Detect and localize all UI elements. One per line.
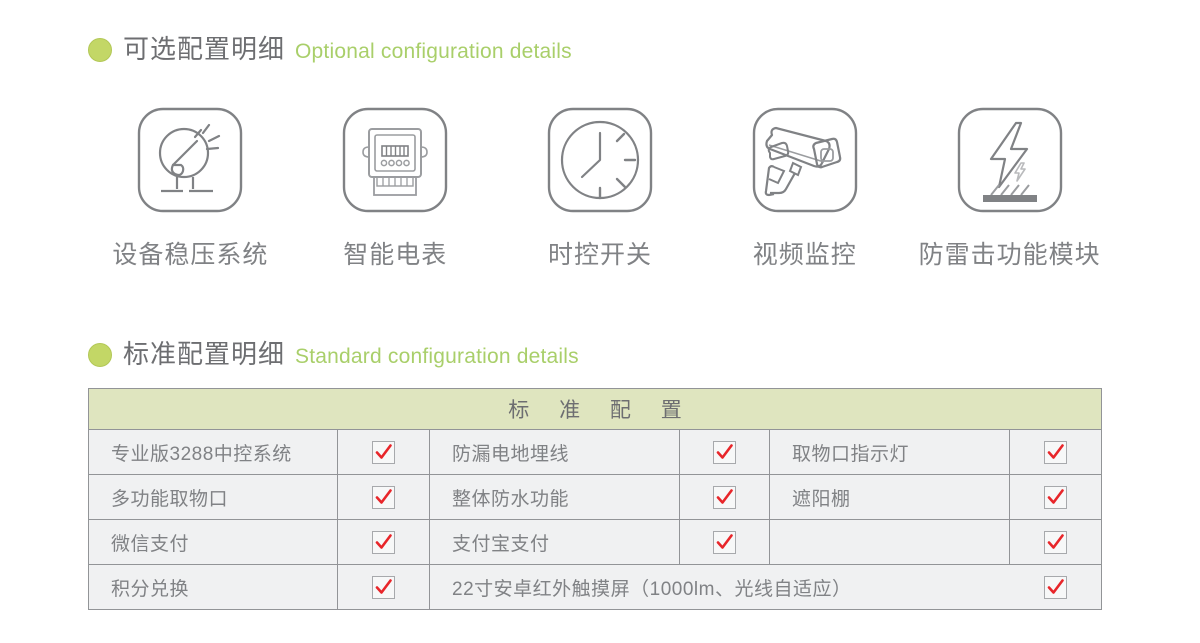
config-item-cell: 积分兑换 [88, 565, 338, 610]
config-item-label: 取物口指示灯 [770, 444, 909, 465]
checkbox-checked-icon[interactable] [1044, 531, 1067, 554]
checkbox-checked-icon[interactable] [1044, 441, 1067, 464]
checkbox-checked-icon[interactable] [372, 531, 395, 554]
optional-item-label: 防雷击功能模块 [919, 235, 1101, 271]
config-item-label: 多功能取物口 [89, 489, 228, 510]
video-surveillance-camera-icon [750, 105, 860, 215]
config-item-label [770, 531, 792, 552]
section-title-cn: 可选配置明细 [123, 29, 285, 66]
smart-electricity-meter-icon [340, 105, 450, 215]
config-item-label: 积分兑换 [89, 579, 189, 600]
table-header-row: 标 准 配 置 [88, 388, 1102, 430]
optional-items-row: 设备稳压系统 智能电表 [88, 105, 1112, 271]
config-item-cell-wide: 22寸安卓红外触摸屏（1000lm、光线自适应） [430, 565, 1102, 610]
optional-item-lightning-protection: 防雷击功能模块 [907, 105, 1112, 271]
config-item-label: 整体防水功能 [430, 489, 569, 510]
section-title-en: Standard configuration details [295, 345, 579, 369]
lightning-protection-icon [955, 105, 1065, 215]
config-item-cell-empty [770, 520, 1010, 565]
config-item-checkbox-cell[interactable] [680, 430, 770, 475]
bullet-circle-icon [88, 343, 112, 367]
checkbox-checked-icon[interactable] [713, 486, 736, 509]
config-item-label: 遮阳棚 [770, 489, 851, 510]
section-header-optional: 可选配置明细 Optional configuration details [88, 29, 572, 66]
config-item-cell: 整体防水功能 [430, 475, 680, 520]
optional-item-voltage-stabilizer: 设备稳压系统 [88, 105, 293, 271]
checkbox-checked-icon[interactable] [1044, 486, 1067, 509]
config-item-label: 微信支付 [89, 534, 189, 555]
config-item-checkbox-cell[interactable] [680, 520, 770, 565]
optional-item-video-surveillance: 视频监控 [702, 105, 907, 271]
optional-item-smart-meter: 智能电表 [293, 105, 498, 271]
config-item-checkbox-cell[interactable] [680, 475, 770, 520]
config-item-checkbox-cell[interactable] [338, 565, 430, 610]
table-row: 多功能取物口 整体防水功能 遮阳棚 [88, 475, 1102, 520]
table-row: 微信支付 支付宝支付 [88, 520, 1102, 565]
time-control-switch-icon [545, 105, 655, 215]
config-item-checkbox-cell[interactable] [338, 520, 430, 565]
checkbox-checked-icon[interactable] [372, 441, 395, 464]
bullet-circle-icon [88, 38, 112, 62]
optional-item-label: 设备稳压系统 [112, 235, 268, 271]
config-item-checkbox-cell[interactable] [1010, 430, 1102, 475]
config-item-label: 防漏电地埋线 [430, 444, 569, 465]
config-item-checkbox-cell[interactable] [1010, 520, 1102, 565]
config-item-label: 专业版3288中控系统 [89, 444, 292, 465]
table-header-cell: 标 准 配 置 [88, 388, 1102, 430]
optional-item-time-switch: 时控开关 [498, 105, 703, 271]
table-row: 积分兑换 22寸安卓红外触摸屏（1000lm、光线自适应） [88, 565, 1102, 610]
table-header-label: 标 准 配 置 [496, 394, 694, 424]
config-item-checkbox-cell[interactable] [1009, 576, 1101, 599]
config-item-cell: 支付宝支付 [430, 520, 680, 565]
checkbox-checked-icon[interactable] [372, 576, 395, 599]
section-header-standard: 标准配置明细 Standard configuration details [88, 334, 579, 371]
table-row: 专业版3288中控系统 防漏电地埋线 取物口指示灯 [88, 430, 1102, 475]
checkbox-checked-icon[interactable] [372, 486, 395, 509]
optional-item-label: 视频监控 [753, 235, 857, 271]
config-item-cell: 防漏电地埋线 [430, 430, 680, 475]
config-item-checkbox-cell[interactable] [1010, 475, 1102, 520]
config-item-cell: 取物口指示灯 [770, 430, 1010, 475]
standard-configuration-table: 标 准 配 置 专业版3288中控系统 防漏电地埋线 取物口指示灯 多功能取物口… [88, 388, 1102, 610]
optional-item-label: 时控开关 [548, 235, 652, 271]
config-item-cell: 多功能取物口 [88, 475, 338, 520]
config-item-cell: 遮阳棚 [770, 475, 1010, 520]
config-item-cell: 专业版3288中控系统 [88, 430, 338, 475]
config-item-cell: 微信支付 [88, 520, 338, 565]
checkbox-checked-icon[interactable] [713, 531, 736, 554]
section-title-en: Optional configuration details [295, 40, 572, 64]
config-item-checkbox-cell[interactable] [338, 475, 430, 520]
section-title-cn: 标准配置明细 [123, 334, 285, 371]
checkbox-checked-icon[interactable] [713, 441, 736, 464]
voltage-stabilizer-icon [135, 105, 245, 215]
checkbox-checked-icon[interactable] [1044, 576, 1067, 599]
config-item-label: 22寸安卓红外触摸屏（1000lm、光线自适应） [430, 574, 851, 601]
config-item-label: 支付宝支付 [430, 534, 550, 555]
config-item-checkbox-cell[interactable] [338, 430, 430, 475]
optional-item-label: 智能电表 [343, 235, 447, 271]
